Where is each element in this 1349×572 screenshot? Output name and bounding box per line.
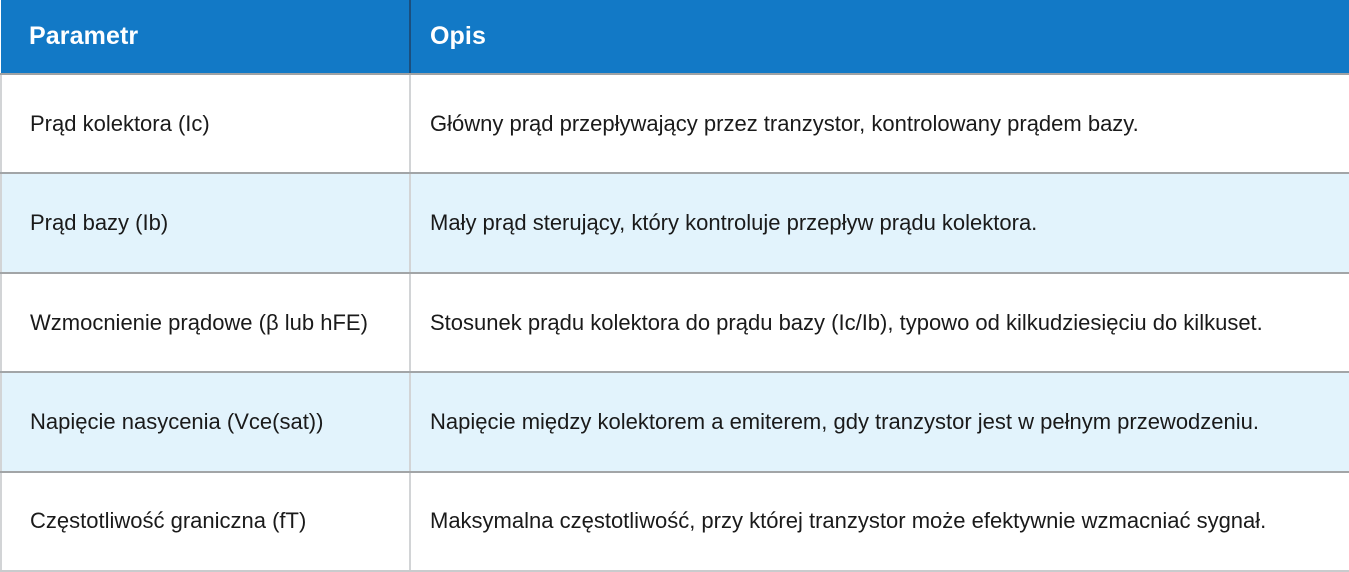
cell-opis: Stosunek prądu kolektora do prądu bazy (… [410,273,1349,372]
table-row: Częstotliwość graniczna (fT) Maksymalna … [1,472,1349,571]
cell-parametr: Wzmocnienie prądowe (β lub hFE) [1,273,410,372]
cell-opis: Główny prąd przepływający przez tranzyst… [410,74,1349,173]
cell-opis: Maksymalna częstotliwość, przy której tr… [410,472,1349,571]
column-header-opis: Opis [410,0,1349,74]
parametr-text: Częstotliwość graniczna (fT) [30,503,383,539]
table-header: Parametr Opis [1,0,1349,74]
table-row: Napięcie nasycenia (Vce(sat)) Napięcie m… [1,372,1349,471]
opis-text: Napięcie między kolektorem a emiterem, g… [430,404,1309,440]
cell-parametr: Prąd kolektora (Ic) [1,74,410,173]
cell-opis: Napięcie między kolektorem a emiterem, g… [410,372,1349,471]
table-body: Prąd kolektora (Ic) Główny prąd przepływ… [1,74,1349,571]
table-row: Wzmocnienie prądowe (β lub hFE) Stosunek… [1,273,1349,372]
cell-opis: Mały prąd sterujący, który kontroluje pr… [410,173,1349,272]
cell-parametr: Częstotliwość graniczna (fT) [1,472,410,571]
opis-text: Maksymalna częstotliwość, przy której tr… [430,503,1309,539]
opis-text: Główny prąd przepływający przez tranzyst… [430,106,1309,142]
cell-parametr: Napięcie nasycenia (Vce(sat)) [1,372,410,471]
opis-text: Stosunek prądu kolektora do prądu bazy (… [430,305,1309,341]
parametr-text: Prąd kolektora (Ic) [30,106,383,142]
parameters-table: Parametr Opis Prąd kolektora (Ic) Główny… [0,0,1349,572]
table-header-row: Parametr Opis [1,0,1349,74]
parametr-text: Napięcie nasycenia (Vce(sat)) [30,404,383,440]
parametr-text: Prąd bazy (Ib) [30,205,383,241]
column-header-parametr: Parametr [1,0,410,74]
table-row: Prąd kolektora (Ic) Główny prąd przepływ… [1,74,1349,173]
table-row: Prąd bazy (Ib) Mały prąd sterujący, któr… [1,173,1349,272]
opis-text: Mały prąd sterujący, który kontroluje pr… [430,205,1309,241]
parametr-text: Wzmocnienie prądowe (β lub hFE) [30,305,383,341]
cell-parametr: Prąd bazy (Ib) [1,173,410,272]
